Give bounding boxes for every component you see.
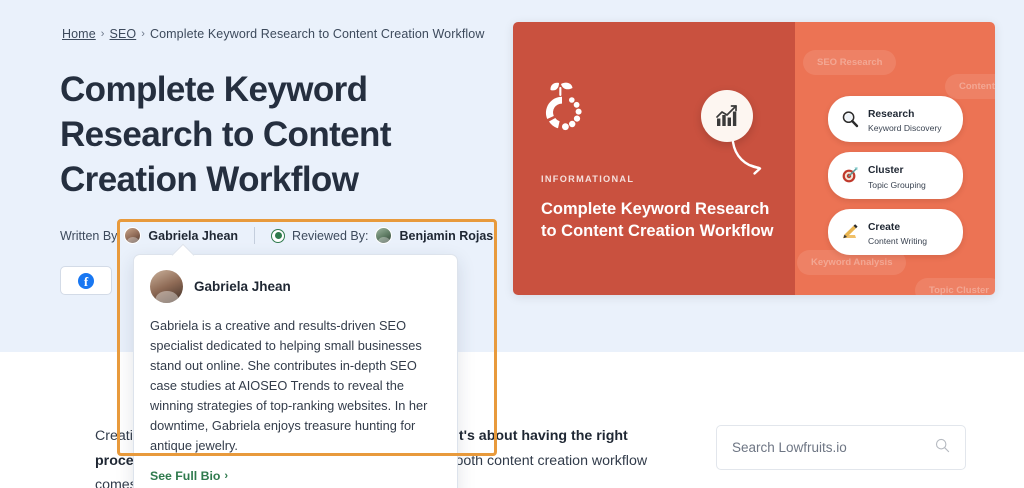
author-bio-card: Gabriela Jhean Gabriela is a creative an… (133, 254, 458, 488)
reviewer-name-link[interactable]: Benjamin Rojas (399, 229, 493, 243)
breadcrumb-separator-2: › (141, 28, 145, 40)
workflow-step-cluster-subtitle: Topic Grouping (868, 181, 926, 191)
breadcrumb-home-link[interactable]: Home (62, 27, 96, 41)
breadcrumb: Home › SEO › Complete Keyword Research t… (62, 27, 484, 41)
author-name-link[interactable]: Gabriela Jhean (148, 229, 238, 243)
ghost-pill-seo-research: SEO Research (803, 50, 896, 75)
author-card-header: Gabriela Jhean (150, 270, 441, 303)
verified-check-icon (271, 229, 285, 243)
written-by-label: Written By (60, 229, 117, 243)
workflow-step-list: Research Keyword Discovery (828, 96, 963, 265)
bar-chart-trend-icon (701, 90, 753, 142)
share-buttons: f (60, 266, 112, 295)
facebook-icon: f (78, 273, 94, 289)
search-input[interactable] (732, 440, 935, 455)
breadcrumb-separator-1: › (101, 28, 105, 40)
workflow-step-cluster-title: Cluster (868, 165, 903, 176)
breadcrumb-current: Complete Keyword Research to Content Cre… (150, 27, 484, 41)
workflow-step-cluster-text: Cluster Topic Grouping (868, 160, 926, 190)
pencil-writing-icon (840, 222, 859, 241)
magnifier-icon (840, 110, 859, 129)
workflow-step-cluster: Cluster Topic Grouping (828, 152, 963, 198)
search-box[interactable] (716, 425, 966, 470)
share-facebook-button[interactable]: f (60, 266, 112, 295)
ghost-pill-topic-cluster: Topic Cluster (915, 278, 995, 295)
author-card-name: Gabriela Jhean (194, 279, 291, 294)
lowfruits-logo-icon (541, 79, 589, 131)
reviewer-avatar (375, 227, 392, 244)
workflow-step-create-text: Create Content Writing (868, 217, 927, 247)
chevron-right-icon: › (224, 470, 228, 482)
see-full-bio-label: See Full Bio (150, 469, 220, 483)
reviewed-by-label: Reviewed By: (292, 229, 368, 243)
see-full-bio-link[interactable]: See Full Bio › (150, 469, 228, 483)
author-avatar (124, 227, 141, 244)
featured-image-card: INFORMATIONAL Complete Keyword Research … (513, 22, 995, 295)
workflow-step-create: Create Content Writing (828, 209, 963, 255)
workflow-step-create-title: Create (868, 222, 900, 233)
workflow-step-create-subtitle: Content Writing (868, 237, 927, 247)
author-card-bio: Gabriela is a creative and results-drive… (150, 316, 441, 456)
byline-divider (254, 227, 255, 244)
workflow-step-research-title: Research (868, 109, 914, 120)
article-byline: Written By Gabriela Jhean Reviewed By: B… (60, 227, 493, 244)
curved-arrow-icon (729, 140, 769, 181)
search-icon[interactable] (935, 438, 950, 458)
workflow-step-research-subtitle: Keyword Discovery (868, 124, 942, 134)
featured-card-right-panel: SEO Research Content Strategy Keyword An… (795, 22, 995, 295)
author-card-avatar (150, 270, 183, 303)
breadcrumb-category-link[interactable]: SEO (110, 27, 137, 41)
dart-target-icon (840, 166, 859, 185)
page-root: Home › SEO › Complete Keyword Research t… (0, 0, 1024, 488)
featured-title: Complete Keyword Research to Content Cre… (541, 198, 786, 242)
page-title: Complete Keyword Research to Content Cre… (60, 67, 480, 202)
workflow-step-research-text: Research Keyword Discovery (868, 104, 942, 134)
featured-card-left-panel: INFORMATIONAL Complete Keyword Research … (513, 22, 795, 295)
workflow-step-research: Research Keyword Discovery (828, 96, 963, 142)
featured-kicker: INFORMATIONAL (541, 174, 634, 184)
